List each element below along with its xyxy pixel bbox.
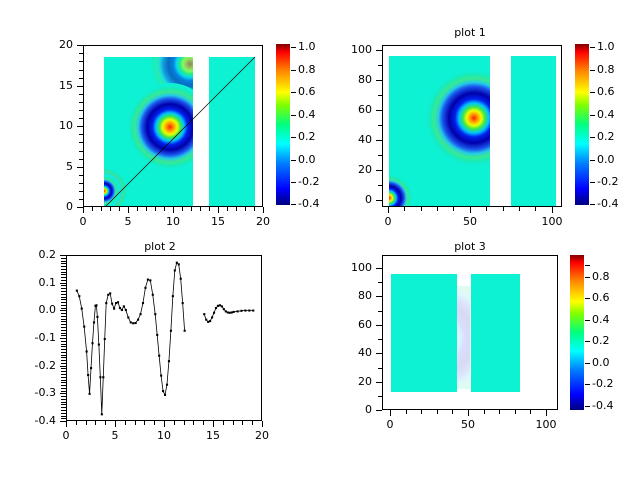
- xtick-bl-0: [66, 421, 67, 427]
- yticklabel-tl-0: 0: [45, 200, 73, 213]
- xticklabel-br-1: 50: [453, 418, 483, 431]
- yticklabel-bl-0: 0.2: [18, 248, 56, 261]
- cbar-label-br-6: -0.4: [592, 399, 613, 412]
- data-point: [184, 330, 186, 332]
- yticklabel-tr-3: 60: [338, 103, 372, 116]
- minor-xtick: [95, 421, 96, 425]
- minor-ytick: [61, 269, 66, 270]
- data-point: [109, 292, 111, 294]
- xticklabel-br-0: 0: [375, 418, 405, 431]
- xtick-bl-3: [213, 421, 214, 427]
- minor-ytick: [61, 407, 66, 408]
- minor-ytick: [61, 324, 66, 325]
- cbar-label-tr-3: 0.4: [597, 108, 615, 121]
- ytick-br-0: [376, 410, 382, 411]
- data-point: [96, 316, 98, 318]
- data-point: [144, 287, 146, 289]
- data-point: [113, 308, 115, 310]
- xticklabel-bl-3: 15: [198, 429, 228, 442]
- data-point: [156, 334, 158, 336]
- data-point: [211, 316, 213, 318]
- cbar-label-tl-6: -0.2: [298, 175, 319, 188]
- data-point: [83, 326, 85, 328]
- figure-canvas: 0 5 10 15 20 0 5 10 15 20: [0, 0, 640, 480]
- ytick-tr-0: [376, 200, 382, 201]
- ytick-tr-2: [376, 140, 382, 141]
- data-point: [89, 393, 91, 395]
- yticklabel-tl-4: 20: [45, 38, 73, 51]
- yticklabel-tr-4: 80: [338, 73, 372, 86]
- minor-xtick: [242, 421, 243, 425]
- ytick-tl-1: [77, 167, 83, 168]
- ytick-tr-1: [376, 170, 382, 171]
- minor-xtick: [174, 421, 175, 425]
- data-point: [104, 338, 106, 340]
- yticklabel-tr-5: 100: [338, 43, 372, 56]
- ytick-br-3: [376, 325, 382, 326]
- yticklabel-bl-2: 0.0: [18, 303, 56, 316]
- data-point: [215, 307, 217, 309]
- minor-ytick: [61, 263, 66, 264]
- minor-ytick: [61, 377, 66, 378]
- ytick-br-5: [376, 268, 382, 269]
- minor-ytick: [61, 316, 66, 317]
- yticklabel-br-0: 0: [338, 403, 372, 416]
- data-point: [125, 309, 127, 311]
- colorbar-top-left: [276, 44, 290, 205]
- heatmap-bottom-right: [383, 256, 558, 410]
- data-point: [132, 322, 134, 324]
- minor-xtick: [233, 421, 234, 425]
- data-point: [209, 320, 211, 322]
- data-point: [119, 307, 121, 309]
- data-point: [174, 269, 176, 271]
- data-point: [93, 321, 95, 323]
- panel-top-right-title: plot 1: [375, 26, 565, 39]
- ytick-tr-3: [376, 110, 382, 111]
- data-point: [140, 313, 142, 315]
- minor-ytick: [61, 346, 66, 347]
- colorbar-bottom-right: [570, 255, 584, 410]
- data-point: [76, 290, 78, 292]
- minor-ytick: [61, 333, 66, 334]
- ytick-bl-1: [60, 283, 66, 284]
- xticklabel-tl-3: 15: [203, 215, 233, 228]
- minor-ytick: [61, 272, 66, 273]
- yticklabel-bl-4: -0.2: [14, 359, 56, 372]
- data-point: [229, 312, 231, 314]
- panel-bottom-right-title: plot 3: [375, 240, 565, 253]
- data-point: [176, 262, 178, 264]
- minor-ytick: [61, 363, 66, 364]
- data-point: [162, 390, 164, 392]
- data-point: [219, 304, 221, 306]
- cbar-label-br-4: 0.0: [592, 356, 610, 369]
- minor-ytick: [61, 297, 66, 298]
- minor-ytick: [61, 410, 66, 411]
- xticklabel-bl-1: 5: [100, 429, 130, 442]
- minor-ytick: [61, 305, 66, 306]
- minor-ytick: [61, 371, 66, 372]
- data-point: [252, 310, 254, 312]
- minor-ytick: [61, 313, 66, 314]
- minor-ytick: [61, 335, 66, 336]
- data-point: [121, 309, 123, 311]
- data-point: [178, 263, 180, 265]
- cbar-label-tr-0: 1.0: [597, 40, 615, 53]
- data-point: [180, 278, 182, 280]
- minor-ytick: [61, 416, 66, 417]
- colorbar-gradient-top-right: [575, 44, 589, 205]
- data-point: [149, 279, 151, 281]
- xtick-tr-0: [388, 207, 389, 213]
- data-point: [158, 355, 160, 357]
- ytick-tr-4: [376, 80, 382, 81]
- ytick-tl-2: [77, 126, 83, 127]
- data-point: [166, 384, 168, 386]
- data-point: [142, 302, 144, 304]
- minor-xtick: [125, 421, 126, 425]
- minor-ytick: [61, 399, 66, 400]
- data-point: [182, 302, 184, 304]
- minor-xtick: [184, 421, 185, 425]
- heatmap-top-right: [383, 46, 562, 207]
- ytick-tl-4: [77, 45, 83, 46]
- colorbar-top-right: [575, 44, 589, 205]
- xtick-br-2: [546, 410, 547, 416]
- cbar-label-tl-2: 0.6: [298, 85, 316, 98]
- data-point: [81, 308, 83, 310]
- minor-ytick: [61, 266, 66, 267]
- cbar-label-tr-2: 0.6: [597, 85, 615, 98]
- data-point: [137, 319, 139, 321]
- ytick-bl-4: [60, 366, 66, 367]
- panel-top-left: 0 5 10 15 20 0 5 10 15 20: [0, 0, 320, 240]
- cbar-label-br-0: 0.8: [592, 270, 610, 283]
- minor-ytick: [61, 261, 66, 262]
- cbar-label-tl-1: 0.8: [298, 63, 316, 76]
- minor-ytick: [61, 368, 66, 369]
- data-point: [160, 375, 162, 377]
- xticklabel-bl-4: 20: [247, 429, 277, 442]
- xticklabel-tl-0: 0: [68, 215, 98, 228]
- line-series-segment-a: [76, 262, 186, 416]
- yticklabel-bl-3: -0.1: [14, 331, 56, 344]
- data-point: [170, 330, 172, 332]
- data-point: [240, 310, 242, 312]
- minor-xtick: [135, 421, 136, 425]
- yticklabel-tl-3: 15: [45, 79, 73, 92]
- xticklabel-tl-1: 5: [113, 215, 143, 228]
- xticklabel-tr-2: 100: [537, 215, 567, 228]
- data-point: [172, 295, 174, 297]
- panel-bottom-left-title: plot 2: [65, 240, 255, 253]
- xtick-tl-0: [83, 207, 84, 213]
- xticklabel-tr-1: 50: [455, 215, 485, 228]
- axes-bottom-left: [66, 255, 262, 421]
- minor-ytick: [61, 321, 66, 322]
- cbar-label-tr-5: 0.0: [597, 153, 615, 166]
- cbar-label-tl-4: 0.2: [298, 130, 316, 143]
- cbar-label-br-1: 0.6: [592, 291, 610, 304]
- yticklabel-tr-0: 0: [338, 193, 372, 206]
- minor-ytick: [61, 413, 66, 414]
- data-point: [205, 319, 207, 321]
- ytick-br-4: [376, 296, 382, 297]
- yticklabel-bl-6: -0.4: [14, 414, 56, 427]
- xticklabel-br-2: 100: [531, 418, 561, 431]
- data-point: [203, 313, 205, 315]
- ytick-bl-5: [60, 393, 66, 394]
- cbar-label-tl-5: 0.0: [298, 153, 316, 166]
- minor-ytick: [61, 308, 66, 309]
- data-point: [91, 342, 93, 344]
- data-point: [111, 303, 113, 305]
- cbar-label-tr-4: 0.2: [597, 130, 615, 143]
- data-point: [207, 321, 209, 323]
- minor-ytick: [61, 274, 66, 275]
- minor-ytick: [61, 355, 66, 356]
- data-point: [147, 279, 149, 281]
- line-series-segment-b: [203, 304, 254, 323]
- data-point: [87, 374, 89, 376]
- xtick-bl-2: [164, 421, 165, 427]
- axes-top-right: [382, 45, 562, 207]
- axes-bottom-right: [382, 255, 558, 410]
- data-point: [248, 310, 250, 312]
- heatmap-top-left: [84, 46, 263, 207]
- xtick-bl-4: [262, 421, 263, 427]
- minor-ytick: [61, 291, 66, 292]
- minor-ytick: [61, 382, 66, 383]
- data-point: [130, 321, 132, 323]
- cbar-label-tl-0: 1.0: [298, 40, 316, 53]
- cbar-label-tl-7: -0.4: [298, 197, 319, 210]
- cbar-label-tr-6: -0.2: [597, 175, 618, 188]
- data-point: [102, 376, 104, 378]
- yticklabel-br-4: 80: [338, 289, 372, 302]
- data-point: [105, 302, 107, 304]
- minor-ytick: [61, 352, 66, 353]
- xtick-tr-1: [470, 207, 471, 213]
- data-point: [152, 294, 154, 296]
- data-point: [164, 394, 166, 396]
- data-point: [168, 360, 170, 362]
- minor-xtick: [223, 421, 224, 425]
- minor-ytick: [61, 288, 66, 289]
- data-point: [117, 301, 119, 303]
- panel-bottom-right: plot 3: [320, 240, 640, 480]
- xtick-bl-1: [115, 421, 116, 427]
- cbar-label-br-3: 0.2: [592, 334, 610, 347]
- axes-top-left: [83, 45, 263, 207]
- cbar-label-tr-1: 0.8: [597, 63, 615, 76]
- data-point: [86, 350, 88, 352]
- yticklabel-bl-1: 0.1: [18, 276, 56, 289]
- data-point: [101, 413, 103, 415]
- xtick-tr-2: [552, 207, 553, 213]
- minor-ytick: [61, 388, 66, 389]
- ytick-tr-5: [376, 50, 382, 51]
- minor-ytick: [61, 402, 66, 403]
- yticklabel-tr-1: 20: [338, 163, 372, 176]
- data-point: [244, 310, 246, 312]
- data-point: [223, 308, 225, 310]
- minor-ytick: [61, 385, 66, 386]
- yticklabel-tl-1: 5: [45, 160, 73, 173]
- data-point: [231, 311, 233, 313]
- data-point: [127, 316, 129, 318]
- data-point: [213, 312, 215, 314]
- minor-ytick: [61, 258, 66, 259]
- minor-ytick: [61, 349, 66, 350]
- yticklabel-br-5: 100: [338, 261, 372, 274]
- minor-ytick: [61, 330, 66, 331]
- xticklabel-bl-0: 0: [51, 429, 81, 442]
- ytick-tl-3: [77, 86, 83, 87]
- minor-ytick: [61, 380, 66, 381]
- data-point: [233, 311, 235, 313]
- panel-bottom-left: plot 2 0.2 0.1 0.0 -0.1 -0.2 -0.3 -0.4 0…: [0, 240, 320, 480]
- ytick-bl-0: [60, 255, 66, 256]
- panel-top-right: plot 1: [320, 0, 640, 240]
- colorbar-gradient-bottom-right: [570, 255, 584, 410]
- minor-ytick: [61, 418, 66, 419]
- yticklabel-bl-5: -0.3: [14, 386, 56, 399]
- xtick-tl-2: [173, 207, 174, 213]
- data-point: [90, 367, 92, 369]
- data-point: [237, 310, 239, 312]
- minor-ytick: [61, 285, 66, 286]
- xticklabel-tl-4: 20: [248, 215, 278, 228]
- cbar-label-tr-7: -0.4: [597, 197, 618, 210]
- minor-ytick: [61, 277, 66, 278]
- yticklabel-br-2: 40: [338, 346, 372, 359]
- yticklabel-tl-2: 10: [45, 119, 73, 132]
- xticklabel-tl-2: 10: [158, 215, 188, 228]
- minor-xtick: [105, 421, 106, 425]
- data-point: [99, 376, 101, 378]
- minor-ytick: [61, 391, 66, 392]
- minor-xtick: [76, 421, 77, 425]
- lineplot-bottom-left: [67, 256, 262, 421]
- minor-ytick: [61, 327, 66, 328]
- data-point: [115, 302, 117, 304]
- minor-xtick: [144, 421, 145, 425]
- minor-xtick: [252, 421, 253, 425]
- yticklabel-br-1: 20: [338, 375, 372, 388]
- colorbar-gradient-top-left: [276, 44, 290, 205]
- minor-ytick: [61, 299, 66, 300]
- data-point: [95, 304, 97, 306]
- minor-xtick: [193, 421, 194, 425]
- ytick-bl-2: [60, 310, 66, 311]
- cbar-label-tl-3: 0.4: [298, 108, 316, 121]
- minor-ytick: [61, 344, 66, 345]
- xtick-tl-3: [218, 207, 219, 213]
- xtick-tl-4: [263, 207, 264, 213]
- minor-ytick: [61, 360, 66, 361]
- minor-xtick: [154, 421, 155, 425]
- minor-ytick: [61, 294, 66, 295]
- xtick-br-1: [468, 410, 469, 416]
- minor-ytick: [61, 396, 66, 397]
- minor-ytick: [61, 302, 66, 303]
- data-point: [123, 305, 125, 307]
- cbar-label-br-2: 0.4: [592, 313, 610, 326]
- data-point: [98, 344, 100, 346]
- minor-ytick: [61, 357, 66, 358]
- ytick-bl-3: [60, 338, 66, 339]
- data-point: [225, 310, 227, 312]
- minor-ytick: [61, 404, 66, 405]
- data-point: [154, 313, 156, 315]
- data-point: [135, 322, 137, 324]
- data-point: [107, 294, 109, 296]
- minor-xtick: [203, 421, 204, 425]
- minor-ytick: [61, 341, 66, 342]
- data-point: [227, 311, 229, 313]
- ytick-br-1: [376, 382, 382, 383]
- xtick-br-0: [390, 410, 391, 416]
- data-point: [221, 305, 223, 307]
- minor-ytick: [61, 280, 66, 281]
- xticklabel-bl-2: 10: [149, 429, 179, 442]
- minor-ytick: [61, 374, 66, 375]
- ytick-br-2: [376, 353, 382, 354]
- data-point: [78, 295, 80, 297]
- yticklabel-tr-2: 40: [338, 133, 372, 146]
- xtick-tl-1: [128, 207, 129, 213]
- minor-xtick: [86, 421, 87, 425]
- data-point: [217, 305, 219, 307]
- xticklabel-tr-0: 0: [373, 215, 403, 228]
- yticklabel-br-3: 60: [338, 318, 372, 331]
- cbar-label-br-5: -0.2: [592, 377, 613, 390]
- minor-ytick: [61, 319, 66, 320]
